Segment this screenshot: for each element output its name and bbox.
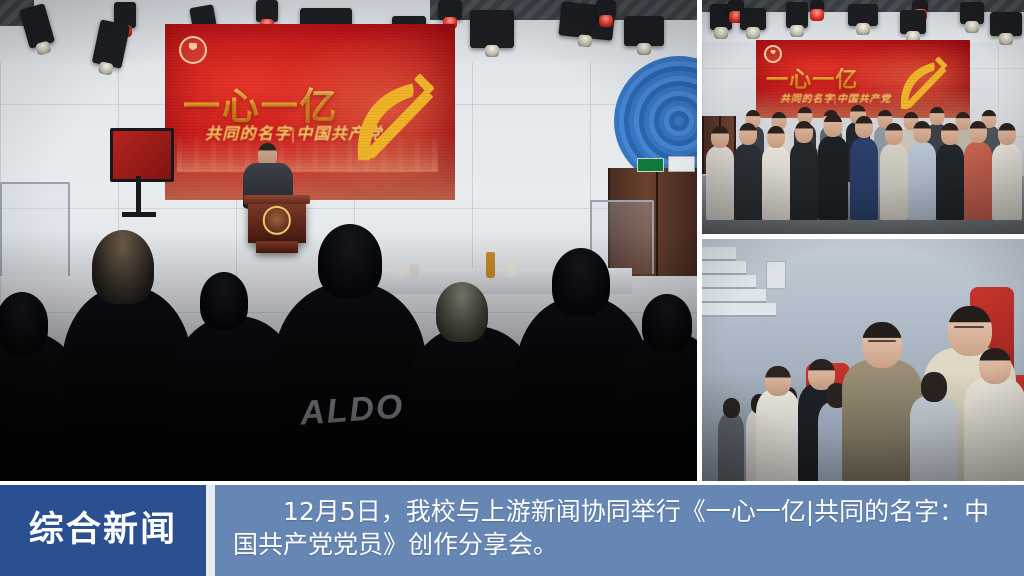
group-member [762,146,790,220]
person-body [964,378,1024,482]
person-head [948,306,992,356]
stage-light-icon [900,10,926,34]
person-head [921,372,947,402]
person-head [941,123,959,145]
caption-bar: 综合新闻 12月5日，我校与上游新闻协同举行《一心一亿|共同的名字：中国共产党党… [0,485,1024,576]
stair-step [702,303,776,317]
stage-light-icon [848,4,878,26]
jacket-logo-text: ALDO [299,387,406,433]
person-head [824,114,843,137]
front-audience-row: ALDO [0,222,697,482]
led-screen-title: 一心一亿 [766,62,858,94]
stage-light-icon [438,0,462,20]
group-member [790,142,818,220]
audience-photo-scene [702,239,1024,482]
hammer-and-sickle-emblem-icon [343,66,439,172]
audience-silhouette [618,332,697,482]
led-stage-screen: 一心一亿 共同的名字|中国共产党 [165,24,455,200]
stage-light-icon [624,16,664,46]
stair-step [702,247,736,261]
led-screen-subtitle: 共同的名字|中国共产党 [205,120,383,144]
group-photo-scene: 一心一亿 共同的名字|中国共产党 [702,0,1024,234]
person-head [739,123,757,145]
group-front-row [702,124,1024,220]
stage-light-icon [810,0,824,12]
person-head [767,126,785,148]
group-member [850,138,878,220]
person-body [756,390,800,482]
led-screen-title: 一心一亿 [183,76,338,130]
person-head [913,121,931,143]
stage-monitor-base [122,212,156,217]
person-head [998,123,1016,145]
person-head [765,366,791,396]
person-head [969,121,987,143]
audience-photo[interactable] [702,239,1024,482]
group-member [706,146,734,220]
audience-head [318,224,382,298]
person-head [885,123,903,145]
stage-light-icon [256,0,278,22]
led-skyline-graphic [177,133,438,172]
person-head [723,398,740,418]
eyeglasses-icon [812,368,830,370]
caption-body: 12月5日，我校与上游新闻协同举行《一心一亿|共同的名字：中国共产党党员》创作分… [215,485,1024,576]
audience-member [964,350,1024,482]
stage-light-icon [740,8,766,30]
audience-head [642,294,692,352]
school-round-logo-icon [179,36,207,64]
audience-head [200,272,248,330]
school-round-logo-icon [764,45,782,63]
photo-collage: 一心一亿 共同的名字|中国共产党 [0,0,1024,482]
stage-light-icon [596,0,616,18]
led-glow [165,133,455,200]
eyeglasses-icon [954,326,984,328]
person-body [718,414,744,482]
audience-head [92,230,154,304]
person-head [862,322,902,368]
news-collage-page: 一心一亿 共同的名字|中国共产党 [0,0,1024,576]
stage-light-icon [786,2,808,28]
exit-sign-icon [637,158,664,172]
stage-light-icon [990,12,1022,36]
audience-member [718,396,744,482]
person-head [711,126,729,148]
group-member [908,142,936,220]
audience-silhouette [274,282,426,482]
stage-light-icon [470,10,514,48]
stair-step [702,275,756,289]
audience-member [910,374,958,482]
group-member [936,144,964,220]
person-head [979,348,1011,384]
category-tag-label: 综合新闻 [29,513,177,548]
main-photo-scene: 一心一亿 共同的名字|中国共产党 [0,0,697,482]
eyeglasses-icon [868,340,896,342]
group-member [880,144,908,220]
audience-head [436,282,488,342]
wall-control-panel [668,156,695,172]
group-member [818,136,848,220]
group-member [964,142,992,220]
caption-text: 12月5日，我校与上游新闻协同举行《一心一亿|共同的名字：中国共产党党员》创作分… [233,495,1006,561]
audience-head [552,248,610,316]
audience-head [0,292,48,354]
person-head [855,116,873,138]
person-head [930,107,945,125]
wall-fixture [766,261,786,289]
stair-step [702,289,766,303]
caption-divider [206,485,215,576]
stage-monitor-stand [136,176,141,214]
stage-light-icon [960,2,984,24]
group-member [734,144,762,220]
audience-member [756,362,800,482]
group-member [992,144,1022,220]
person-head [795,121,813,143]
stair-step [702,261,746,275]
person-body [910,396,958,482]
podium-top [244,195,310,204]
group-photo[interactable]: 一心一亿 共同的名字|中国共产党 [702,0,1024,234]
category-tag: 综合新闻 [0,485,206,576]
main-photo[interactable]: 一心一亿 共同的名字|中国共产党 [0,0,697,482]
stage-monitor [110,128,174,182]
